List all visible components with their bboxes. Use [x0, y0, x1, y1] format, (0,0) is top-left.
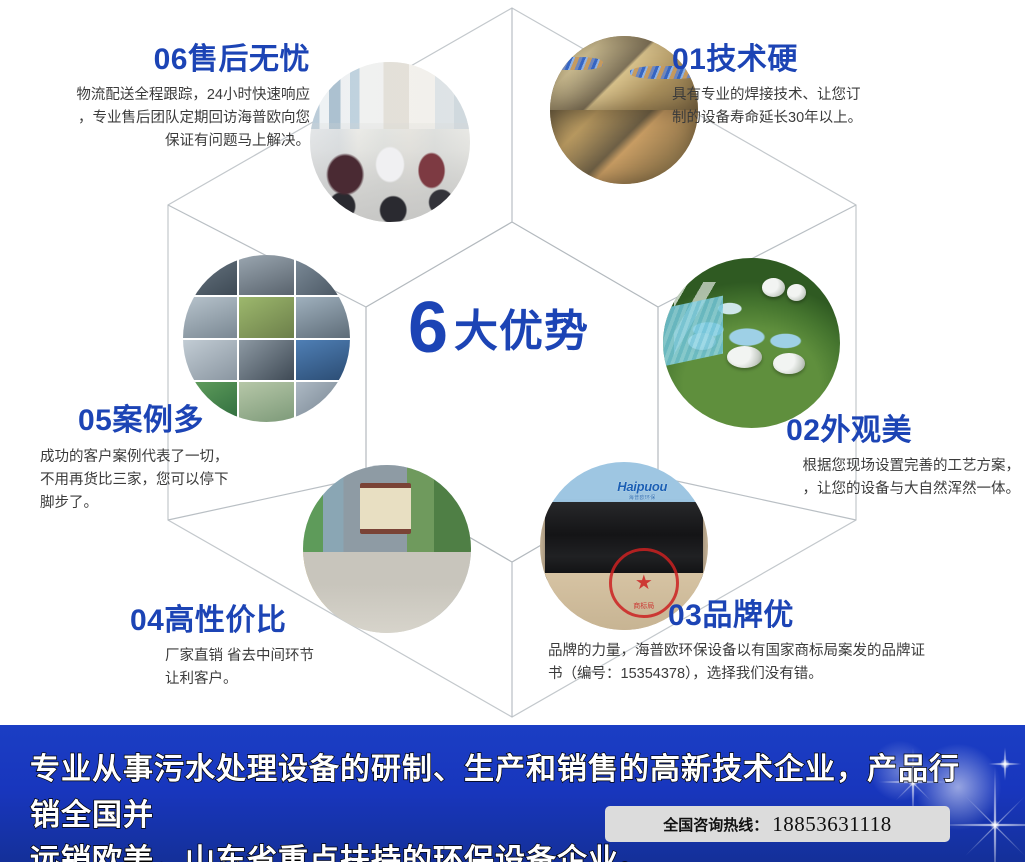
advantage-03-body: 品牌的力量，海普欧环保设备以有国家商标局案发的品牌证 书（编号：15354378…: [540, 640, 1010, 687]
advantage-01-heading: 01技术硬: [672, 44, 1002, 76]
advantage-02-image: [663, 258, 840, 428]
hotline-box[interactable]: 全国咨询热线： 18853631118: [605, 806, 950, 842]
advantage-05-block: 05案例多 成功的客户案例代表了一切， 不用再货比三家，您可以停下 脚步了。: [40, 405, 330, 516]
banner-text: 专业从事污水处理设备的研制、生产和销售的高新技术企业，产品行销全国并 远销欧美，…: [30, 747, 990, 862]
advantage-06-body: 物流配送全程跟踪，24小时快速响应 ，专业售后团队定期回访海普欧向您 保证有问题…: [10, 84, 310, 154]
advantage-06-image: [310, 62, 470, 222]
haipuou-logo-text: Haipuou: [617, 479, 667, 494]
advantage-04-block: 04高性价比 厂家直销 省去中间环节 让利客户。: [130, 605, 430, 691]
center-label: 大优势: [454, 307, 589, 356]
sparkle-icon-3: [988, 747, 1022, 781]
advantage-02-body: 根据您现场设置完善的工艺方案， ，让您的设备与大自然浑然一体。: [700, 455, 1020, 502]
advantage-02-heading: 02外观美: [700, 415, 1020, 447]
advantage-06-heading: 06售后无忧: [10, 44, 310, 76]
advantage-05-image: [183, 255, 350, 422]
advantage-02-block: 02外观美 根据您现场设置完善的工艺方案， ，让您的设备与大自然浑然一体。: [700, 415, 1020, 501]
haipuou-logo-sub: 海普欧环保: [617, 494, 667, 501]
advantage-04-body: 厂家直销 省去中间环节 让利客户。: [130, 645, 430, 692]
advantage-06-block: 06售后无忧 物流配送全程跟踪，24小时快速响应 ，专业售后团队定期回访海普欧向…: [10, 44, 310, 154]
stamp-star-icon: ★: [635, 573, 653, 593]
advantage-01-body: 具有专业的焊接技术、让您订 制的设备寿命延长30年以上。: [672, 84, 1002, 131]
advantage-01-block: 01技术硬 具有专业的焊接技术、让您订 制的设备寿命延长30年以上。: [672, 44, 1002, 130]
advantage-03-heading: 03品牌优: [540, 600, 1010, 632]
advantage-03-block: 03品牌优 品牌的力量，海普欧环保设备以有国家商标局案发的品牌证 书（编号：15…: [540, 600, 1010, 686]
advantage-05-body: 成功的客户案例代表了一切， 不用再货比三家，您可以停下 脚步了。: [40, 446, 330, 516]
infographic-stage: 06售后无忧 物流配送全程跟踪，24小时快速响应 ，专业售后团队定期回访海普欧向…: [0, 0, 1025, 862]
hotline-label: 全国咨询热线：: [663, 814, 768, 835]
center-number: 6: [408, 288, 448, 368]
advantage-05-heading: 05案例多: [40, 405, 330, 437]
hotline-number: 18853631118: [772, 812, 891, 837]
center-title: 6大优势: [408, 292, 589, 364]
haipuou-logo: Haipuou 海普欧环保: [617, 479, 667, 501]
trademark-stamp-icon: ★ 商标局: [609, 548, 679, 618]
case-photo-grid: [183, 255, 350, 422]
advantage-04-heading: 04高性价比: [130, 605, 430, 637]
stamp-label: 商标局: [633, 601, 654, 611]
